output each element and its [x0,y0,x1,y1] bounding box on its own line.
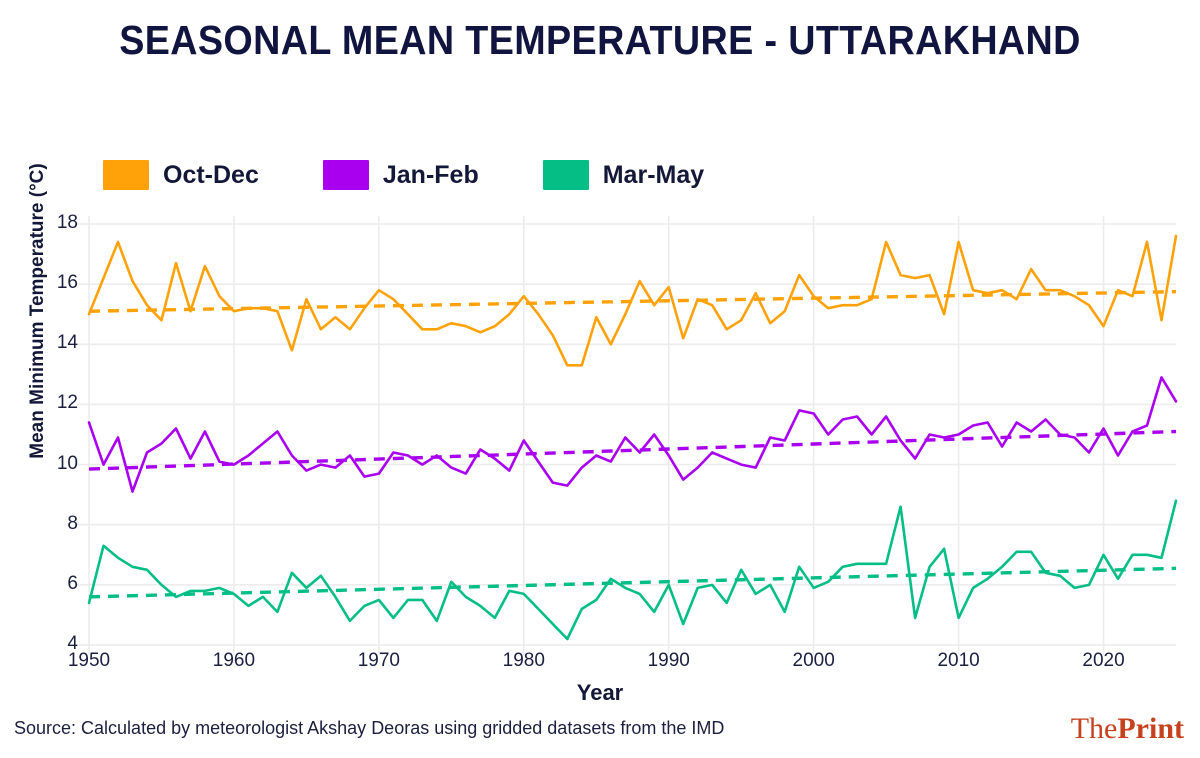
y-axis-label: Mean Minimum Temperature (°C) [27,101,49,521]
chart-canvas [0,0,1200,758]
theprint-logo: ThePrint [1071,712,1184,746]
x-tick-label: 1980 [484,650,564,672]
x-tick-label: 1970 [339,650,419,672]
x-tick-label: 2000 [774,650,854,672]
plot-area: 4681012141618 19501960197019801990200020… [0,0,1200,758]
brand-print: Print [1117,712,1184,745]
source-note: Source: Calculated by meteorologist Aksh… [14,718,724,739]
y-tick-label: 6 [38,573,78,595]
x-axis-label: Year [0,680,1200,706]
x-tick-label: 1950 [49,650,129,672]
x-tick-label: 1990 [629,650,709,672]
brand-the: The [1071,712,1118,745]
x-tick-label: 2010 [919,650,999,672]
chart-page: SEASONAL MEAN TEMPERATURE - UTTARAKHAND … [0,0,1200,758]
x-tick-label: 1960 [194,650,274,672]
x-tick-label: 2020 [1064,650,1144,672]
